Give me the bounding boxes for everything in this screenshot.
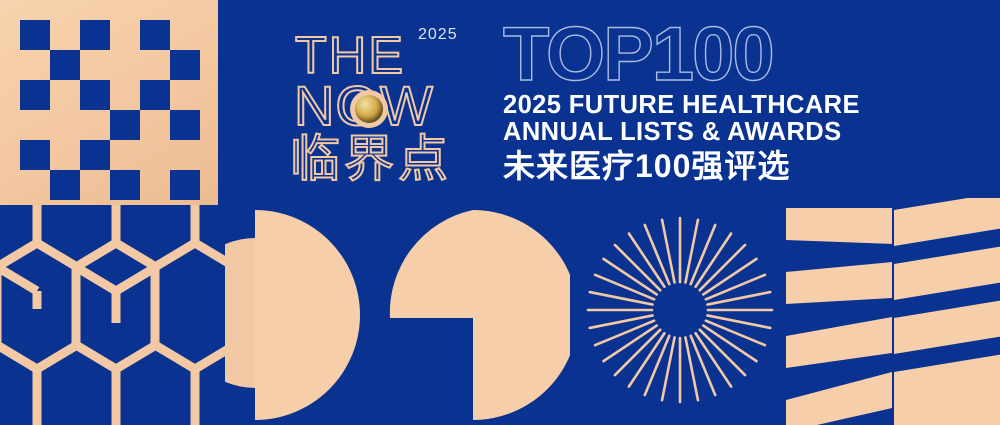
checker-cell-4-4: [140, 140, 170, 170]
checker-cell-3-0: [20, 110, 50, 140]
checker-cell-2-5: [170, 80, 200, 110]
checker-cell-4-3: [110, 140, 140, 170]
diagonal-stripes-decoration: [780, 198, 1000, 425]
checker-cell-0-4: [140, 20, 170, 50]
checker-cell-0-1: [50, 20, 80, 50]
checker-cell-2-2: [80, 80, 110, 110]
starburst-ray-12: [615, 330, 660, 375]
checker-cell-0-5: [170, 20, 200, 50]
checker-cell-4-2: [80, 140, 110, 170]
checker-cell-1-0: [20, 50, 50, 80]
subtitle-chinese: 未来医疗100强评选: [503, 149, 853, 185]
starburst-ray-28: [700, 245, 745, 290]
hexagon-lattice-svg: [0, 205, 232, 425]
checker-cell-2-1: [50, 80, 80, 110]
stripes-right-column: [894, 198, 1000, 425]
checker-cell-1-1: [50, 50, 80, 80]
checker-cell-4-0: [20, 140, 50, 170]
logo-year-text: 2025: [418, 26, 458, 44]
checker-cell-5-0: [20, 170, 50, 200]
checker-cell-1-5: [170, 50, 200, 80]
checker-cell-3-4: [140, 110, 170, 140]
checker-cell-2-0: [20, 80, 50, 110]
checker-grid: [20, 20, 200, 200]
checkerboard-decoration: [0, 0, 218, 205]
checker-cell-3-3: [110, 110, 140, 140]
semicircle-shapes-decoration: [225, 200, 570, 425]
diagonal-stripes-svg: [780, 198, 1000, 425]
logo-chinese-text: 临界点: [290, 134, 452, 184]
checker-cell-2-4: [140, 80, 170, 110]
checker-cell-1-3: [110, 50, 140, 80]
title-block: TOP100 2025 FUTURE HEALTHCARE ANNUAL LIS…: [503, 20, 853, 195]
stripes-left-column: [786, 208, 892, 425]
subtitle-line-1: 2025 FUTURE HEALTHCARE: [503, 92, 853, 120]
checker-cell-0-2: [80, 20, 110, 50]
checker-cell-2-3: [110, 80, 140, 110]
starburst-decoration: [580, 210, 780, 410]
checker-cell-5-5: [170, 170, 200, 200]
checker-cell-3-2: [80, 110, 110, 140]
half-disc-main: [255, 210, 360, 420]
checker-cell-5-1: [50, 170, 80, 200]
checker-cell-1-4: [140, 50, 170, 80]
quarter-notch-disc: [390, 210, 570, 420]
checker-cell-4-1: [50, 140, 80, 170]
checker-cell-5-3: [110, 170, 140, 200]
starburst-svg: [580, 210, 780, 410]
checker-cell-3-5: [170, 110, 200, 140]
banner-root: THE 2025 NOW 临界点 TOP100 2025 FUTURE HEAL…: [0, 0, 1000, 425]
checker-cell-0-3: [110, 20, 140, 50]
gold-sphere-icon: [350, 90, 388, 128]
starburst-ray-4: [700, 330, 745, 375]
semicircle-shapes-svg: [225, 200, 570, 425]
checker-cell-4-5: [170, 140, 200, 170]
checker-cell-5-4: [140, 170, 170, 200]
page-title-top100: TOP100: [503, 20, 853, 90]
checker-cell-1-2: [80, 50, 110, 80]
half-disc-left: [225, 238, 255, 388]
checker-cell-5-2: [80, 170, 110, 200]
starburst-ray-20: [615, 245, 660, 290]
hexagon-lattice-decoration: [0, 205, 232, 425]
checker-cell-3-1: [50, 110, 80, 140]
subtitle-line-2: ANNUAL LISTS & AWARDS: [503, 119, 853, 147]
the-now-logo: THE 2025 NOW 临界点: [290, 22, 480, 187]
checker-cell-0-0: [20, 20, 50, 50]
